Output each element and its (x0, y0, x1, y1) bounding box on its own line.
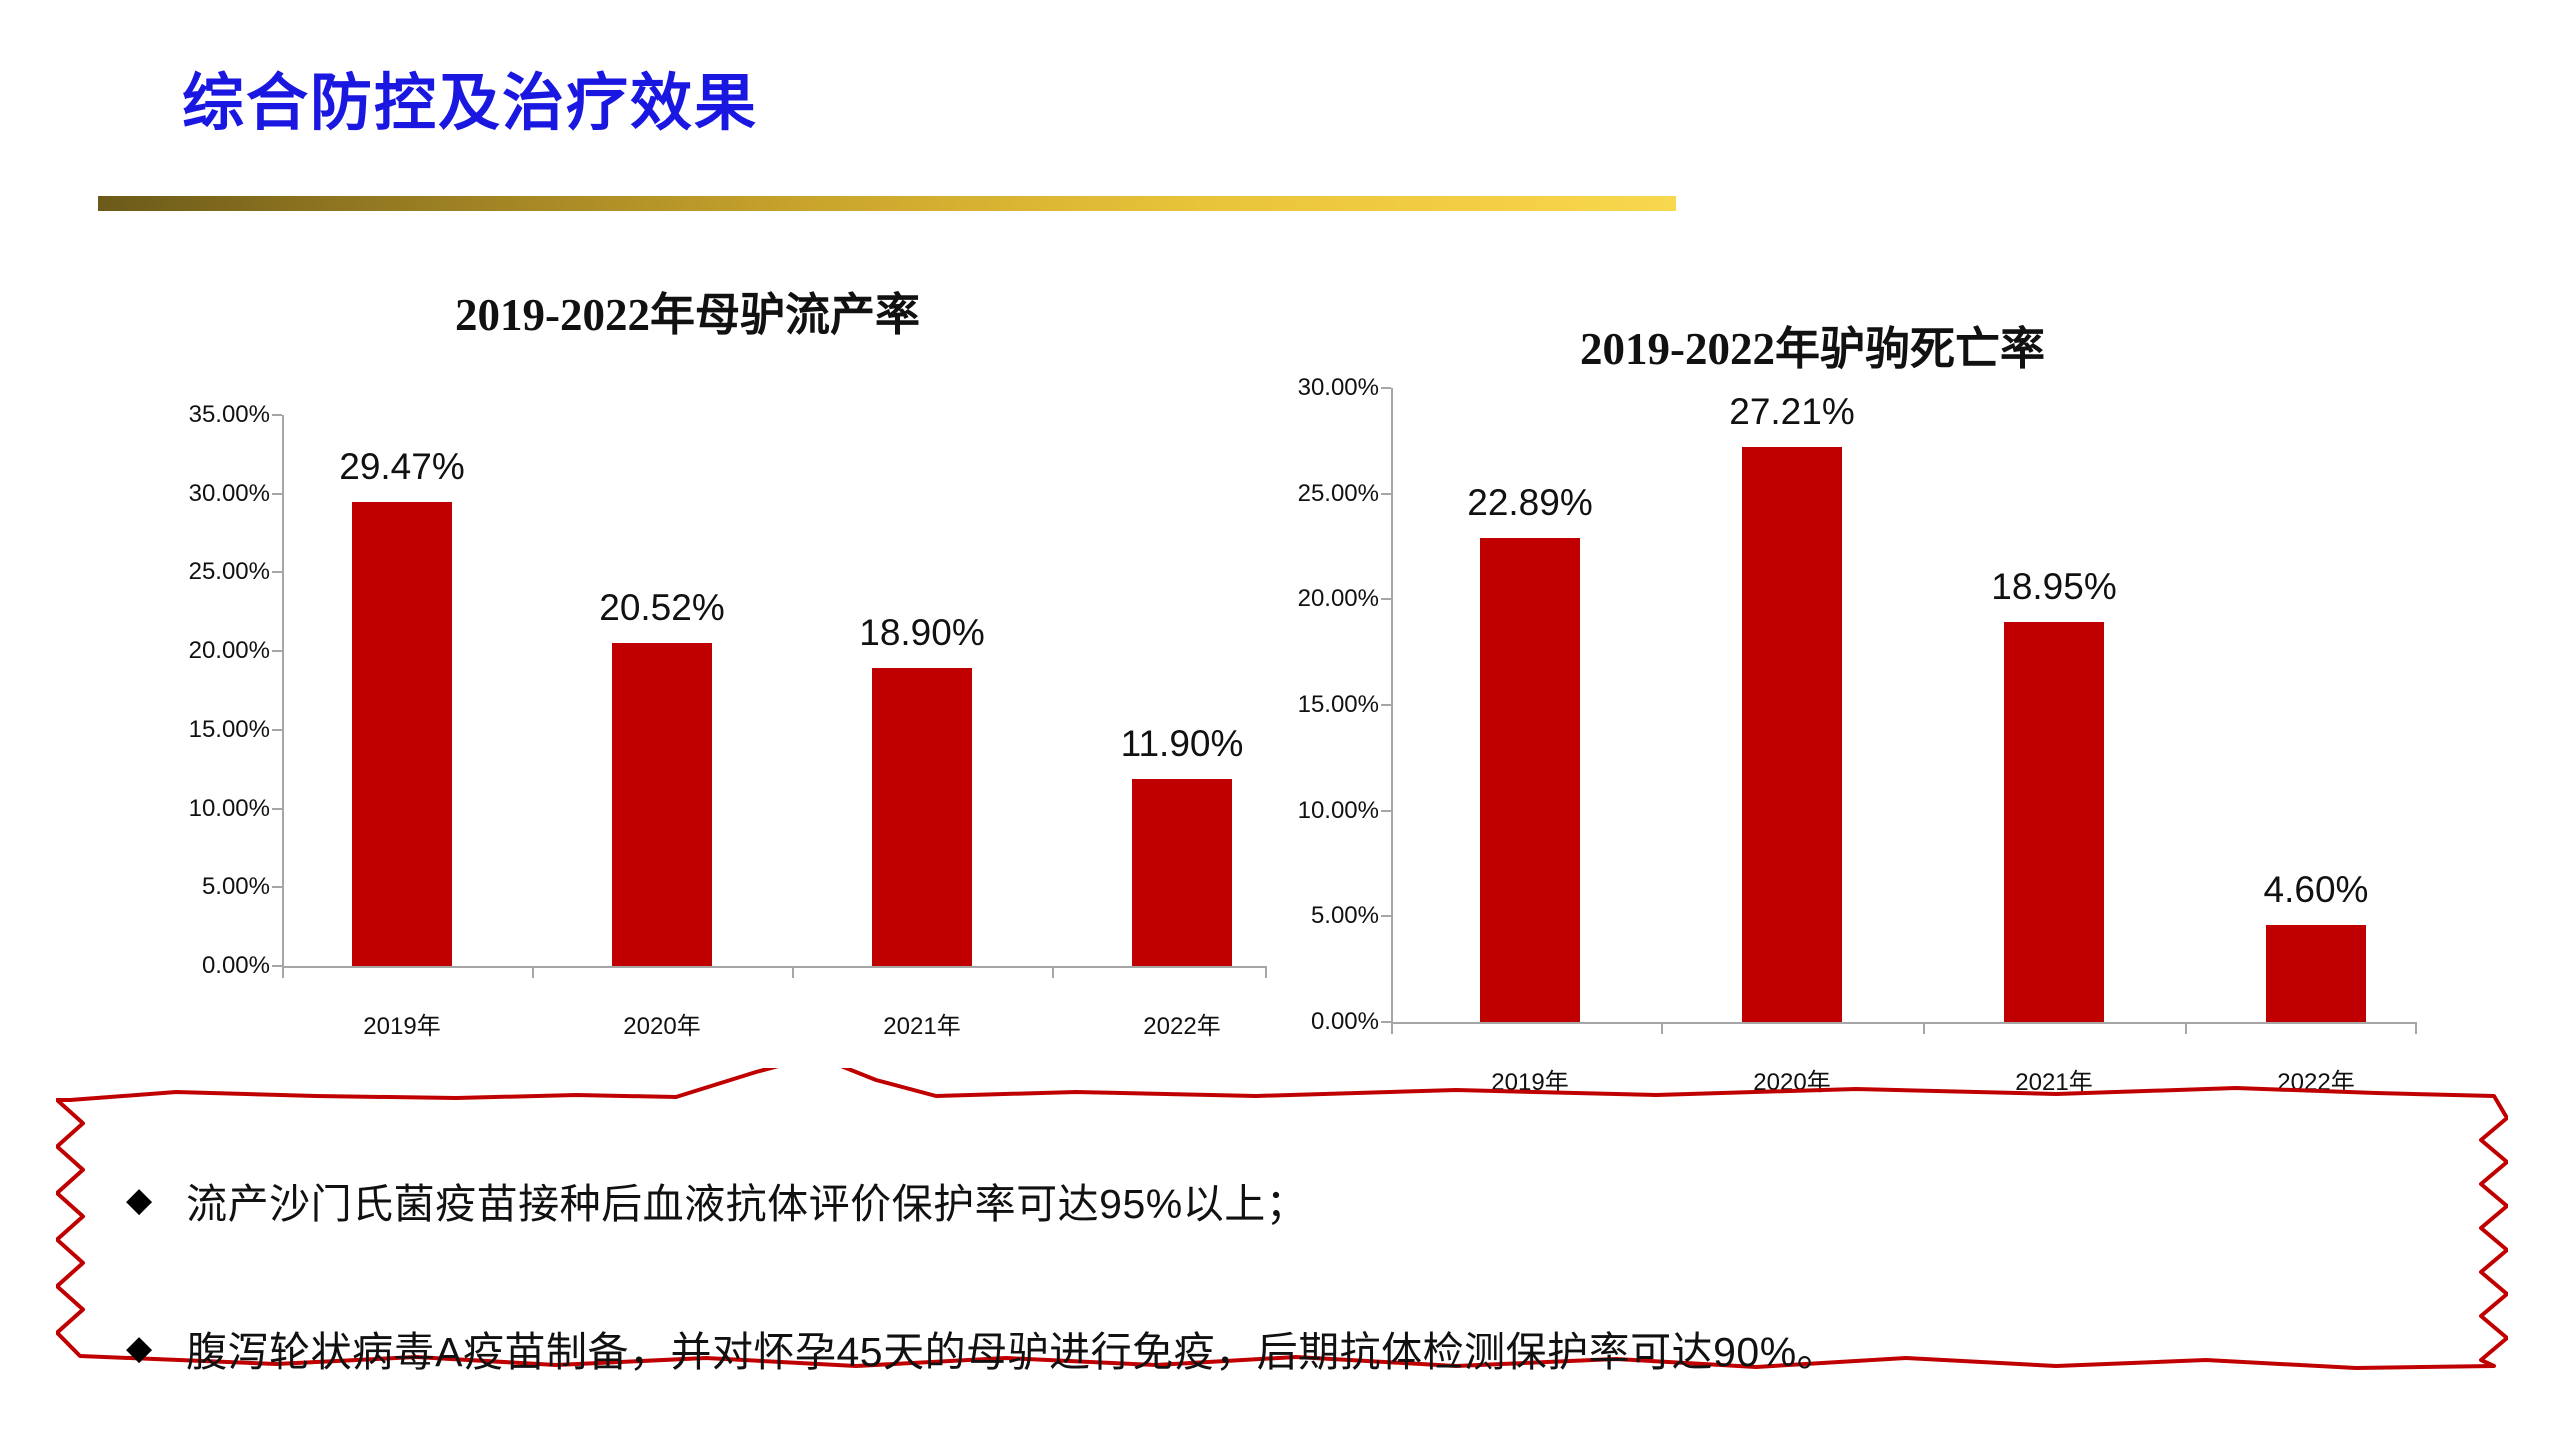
bar-value-label: 18.95% (1991, 566, 2117, 608)
y-axis-tick-mark (1381, 493, 1391, 495)
diamond-bullet-icon: ◆ (126, 1183, 152, 1217)
y-axis-tick-mark (1381, 704, 1391, 706)
bar (1742, 447, 1842, 1022)
bar-value-label: 22.89% (1467, 482, 1593, 524)
y-axis-tick-mark (1381, 1021, 1391, 1023)
conclusion-callout-box: ◆ 流产沙门氏菌疫苗接种后血液抗体评价保护率可达95%以上； ◆ 腹泻轮状病毒A… (56, 1068, 2508, 1388)
y-axis-tick-label: 10.00% (1231, 797, 1379, 825)
bar (2266, 925, 2366, 1022)
note-item-1: ◆ 流产沙门氏菌疫苗接种后血液抗体评价保护率可达95%以上； (126, 1170, 1307, 1230)
bar-value-label: 4.60% (2264, 869, 2369, 911)
x-axis-tick-mark (2415, 1022, 2417, 1034)
y-axis-tick-label: 30.00% (1231, 374, 1379, 402)
note-item-2: ◆ 腹泻轮状病毒A疫苗制备，并对怀孕45天的母驴进行免疫，后期抗体检测保护率可达… (126, 1318, 1838, 1378)
x-axis-tick-mark (1661, 1022, 1663, 1034)
y-axis-tick-mark (1381, 915, 1391, 917)
y-axis-tick-mark (1381, 810, 1391, 812)
bar (2004, 622, 2104, 1022)
y-axis-tick-mark (1381, 387, 1391, 389)
x-axis-tick-mark (1923, 1022, 1925, 1034)
y-axis-tick-label: 25.00% (1231, 480, 1379, 508)
x-axis-tick-mark (2185, 1022, 2187, 1034)
x-axis-line (1391, 1022, 2415, 1024)
y-axis-line (1391, 388, 1393, 1022)
x-axis-tick-mark (1391, 1022, 1393, 1034)
note-item-2-text: 腹泻轮状病毒A疫苗制备，并对怀孕45天的母驴进行免疫，后期抗体检测保护率可达90… (186, 1318, 1838, 1378)
y-axis-tick-label: 5.00% (1231, 902, 1379, 930)
bar (1480, 538, 1580, 1022)
diamond-bullet-icon: ◆ (126, 1331, 152, 1365)
y-axis-tick-label: 15.00% (1231, 691, 1379, 719)
y-axis-tick-mark (1381, 598, 1391, 600)
y-axis-tick-label: 20.00% (1231, 585, 1379, 613)
note-item-1-text: 流产沙门氏菌疫苗接种后血液抗体评价保护率可达95%以上； (186, 1170, 1307, 1230)
bar-value-label: 27.21% (1729, 391, 1855, 433)
y-axis-tick-label: 0.00% (1231, 1008, 1379, 1036)
